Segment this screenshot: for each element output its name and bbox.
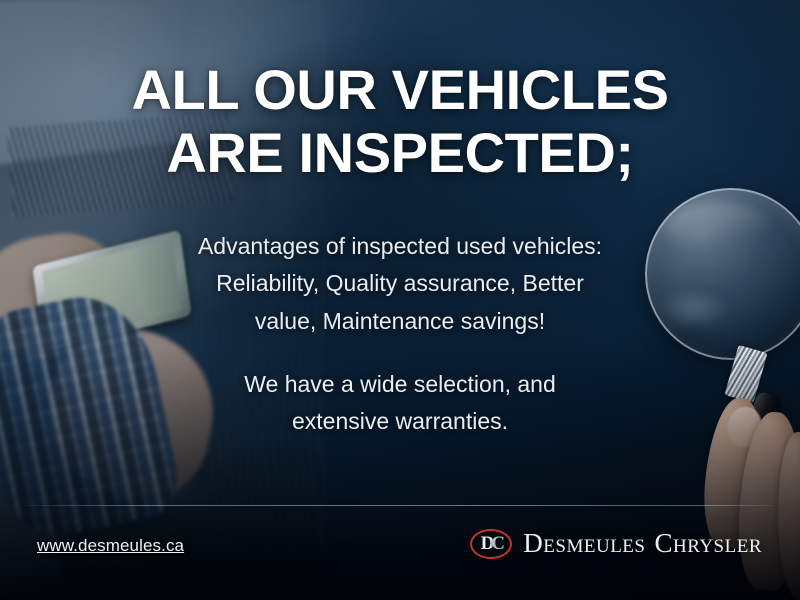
body-p1-line-1: Advantages of inspected used vehicles:	[120, 228, 680, 265]
body-paragraph-1: Advantages of inspected used vehicles: R…	[120, 228, 680, 340]
footer-divider	[26, 505, 774, 506]
promotional-banner: ALL OUR VEHICLES ARE INSPECTED; Advantag…	[0, 0, 800, 600]
dealer-logo[interactable]: DC DesmeulesChrysler	[470, 528, 762, 559]
headline-line-1: ALL OUR VEHICLES	[60, 58, 740, 121]
body-p1-line-3: value, Maintenance savings!	[120, 303, 680, 340]
dealer-name-second: Chrysler	[654, 528, 762, 558]
body-p2-line-1: We have a wide selection, and	[120, 366, 680, 403]
logo-monogram-letters: DC	[470, 529, 512, 559]
body-paragraph-2: We have a wide selection, and extensive …	[120, 366, 680, 441]
body-p2-line-2: extensive warranties.	[120, 403, 680, 440]
monogram-c: C	[491, 533, 502, 555]
dealer-name-first: Desmeules	[523, 528, 645, 558]
website-url-link[interactable]: www.desmeules.ca	[37, 536, 184, 556]
body-p1-line-2: Reliability, Quality assurance, Better	[120, 265, 680, 302]
body-copy: Advantages of inspected used vehicles: R…	[120, 228, 680, 440]
headline-line-2: ARE INSPECTED;	[60, 121, 740, 184]
monogram-d: D	[481, 533, 492, 555]
banner-content: ALL OUR VEHICLES ARE INSPECTED; Advantag…	[0, 0, 800, 600]
headline: ALL OUR VEHICLES ARE INSPECTED;	[60, 58, 740, 185]
dealer-name: DesmeulesChrysler	[523, 528, 762, 559]
dc-monogram-icon: DC	[470, 529, 512, 559]
